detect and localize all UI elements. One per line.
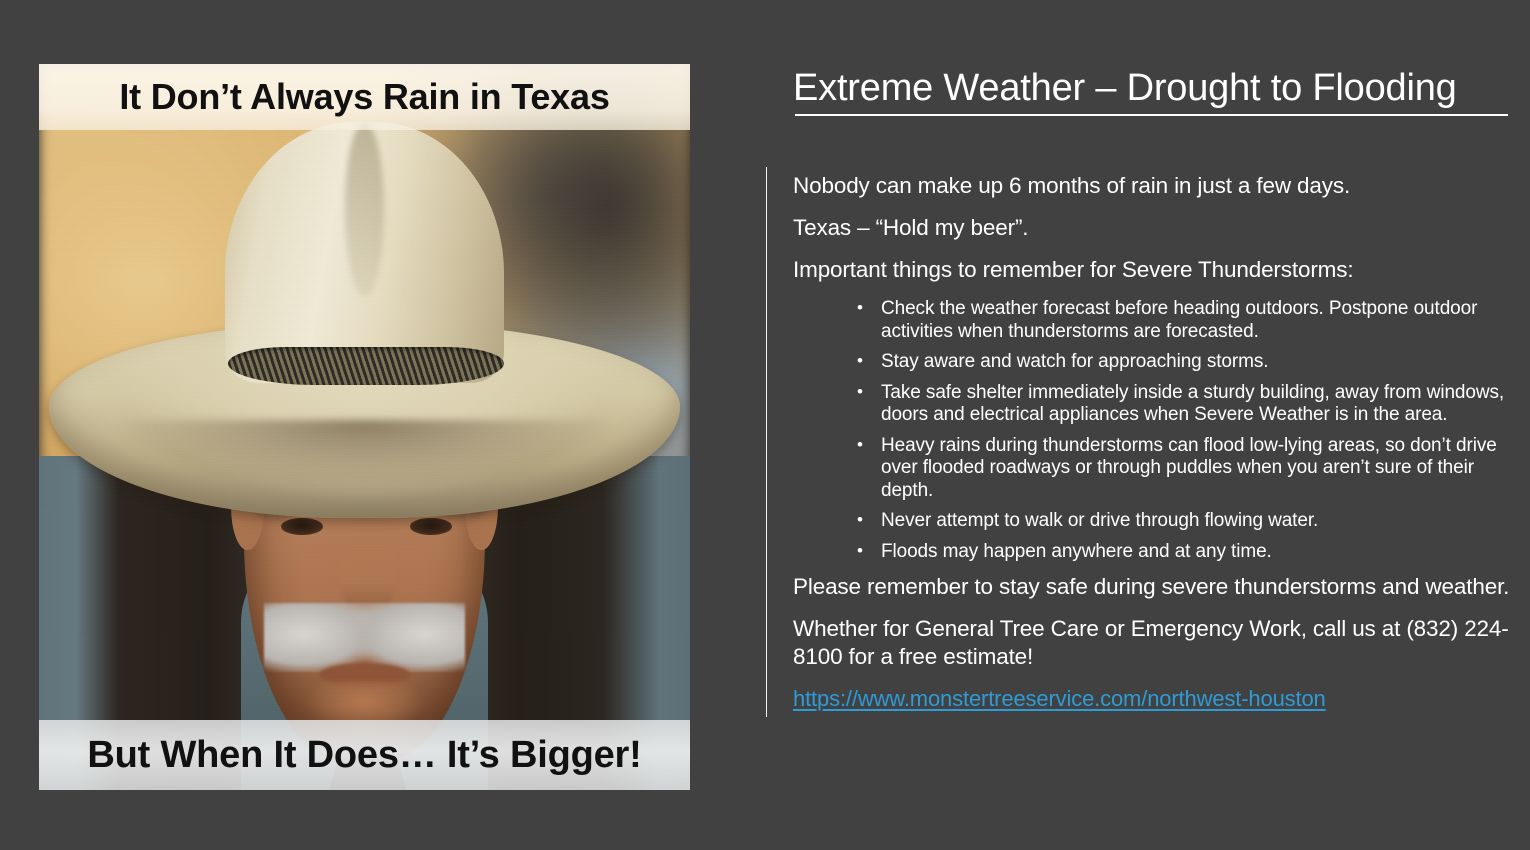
cowboy-hat-band [228, 347, 505, 385]
cowboy-eye-left [281, 518, 323, 535]
list-item: Check the weather forecast before headin… [857, 298, 1511, 343]
body-paragraph-2: Texas – “Hold my beer”. [793, 214, 1511, 242]
slide-title: Extreme Weather – Drought to Flooding [793, 67, 1513, 110]
cowboy-hat-brim-shadow [117, 420, 612, 493]
content-left-vertical-rule [766, 167, 767, 717]
cowboy-hat-crease [345, 122, 384, 296]
slide-body: Nobody can make up 6 months of rain in j… [793, 172, 1511, 713]
title-underline [795, 114, 1508, 116]
closing-paragraph-2: Whether for General Tree Care or Emergen… [793, 615, 1511, 671]
body-paragraph-3: Important things to remember for Severe … [793, 256, 1511, 284]
closing-paragraph-1: Please remember to stay safe during seve… [793, 573, 1511, 601]
safety-tips-list: Check the weather forecast before headin… [793, 298, 1511, 563]
list-item: Stay aware and watch for approaching sto… [857, 351, 1511, 374]
presentation-slide: It Don’t Always Rain in Texas But When I… [0, 0, 1530, 850]
list-item: Floods may happen anywhere and at any ti… [857, 541, 1511, 564]
list-item: Never attempt to walk or drive through f… [857, 510, 1511, 533]
cowboy-mustache [264, 603, 466, 672]
meme-caption-bottom: But When It Does… It’s Bigger! [39, 720, 690, 790]
body-paragraph-1: Nobody can make up 6 months of rain in j… [793, 172, 1511, 200]
cowboy-eye-right [410, 518, 452, 535]
cowboy-meme-image: It Don’t Always Rain in Texas But When I… [39, 64, 690, 790]
cowboy-photo [39, 64, 690, 790]
list-item: Take safe shelter immediately inside a s… [857, 382, 1511, 427]
list-item: Heavy rains during thunderstorms can flo… [857, 435, 1511, 503]
meme-caption-top: It Don’t Always Rain in Texas [39, 64, 690, 130]
company-website-link[interactable]: https://www.monstertreeservice.com/north… [793, 685, 1326, 713]
